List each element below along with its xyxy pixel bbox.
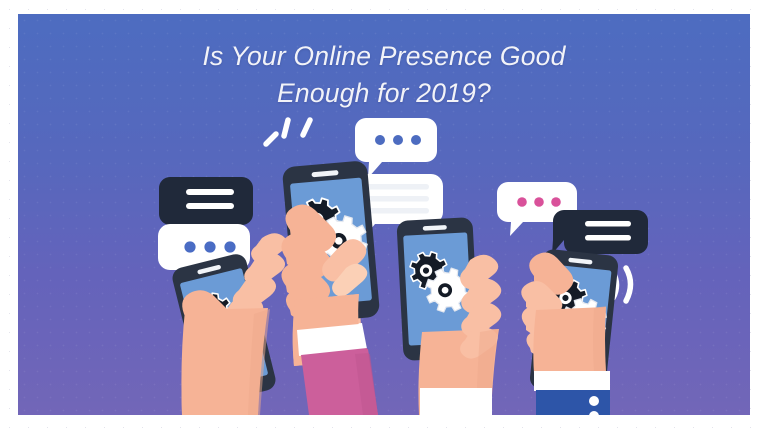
bubble-white-dots-top (355, 118, 437, 178)
headline-line-1: Is Your Online Presence Good (18, 38, 750, 75)
gradient-panel: Is Your Online Presence Good Enough for … (18, 14, 750, 415)
sparkle-burst (266, 120, 310, 144)
bubble-dark-right (552, 210, 648, 254)
headline-line-2: Enough for 2019? (18, 75, 750, 112)
page-title: Is Your Online Presence Good Enough for … (18, 38, 750, 111)
illustration-banner: Is Your Online Presence Good Enough for … (0, 0, 768, 432)
